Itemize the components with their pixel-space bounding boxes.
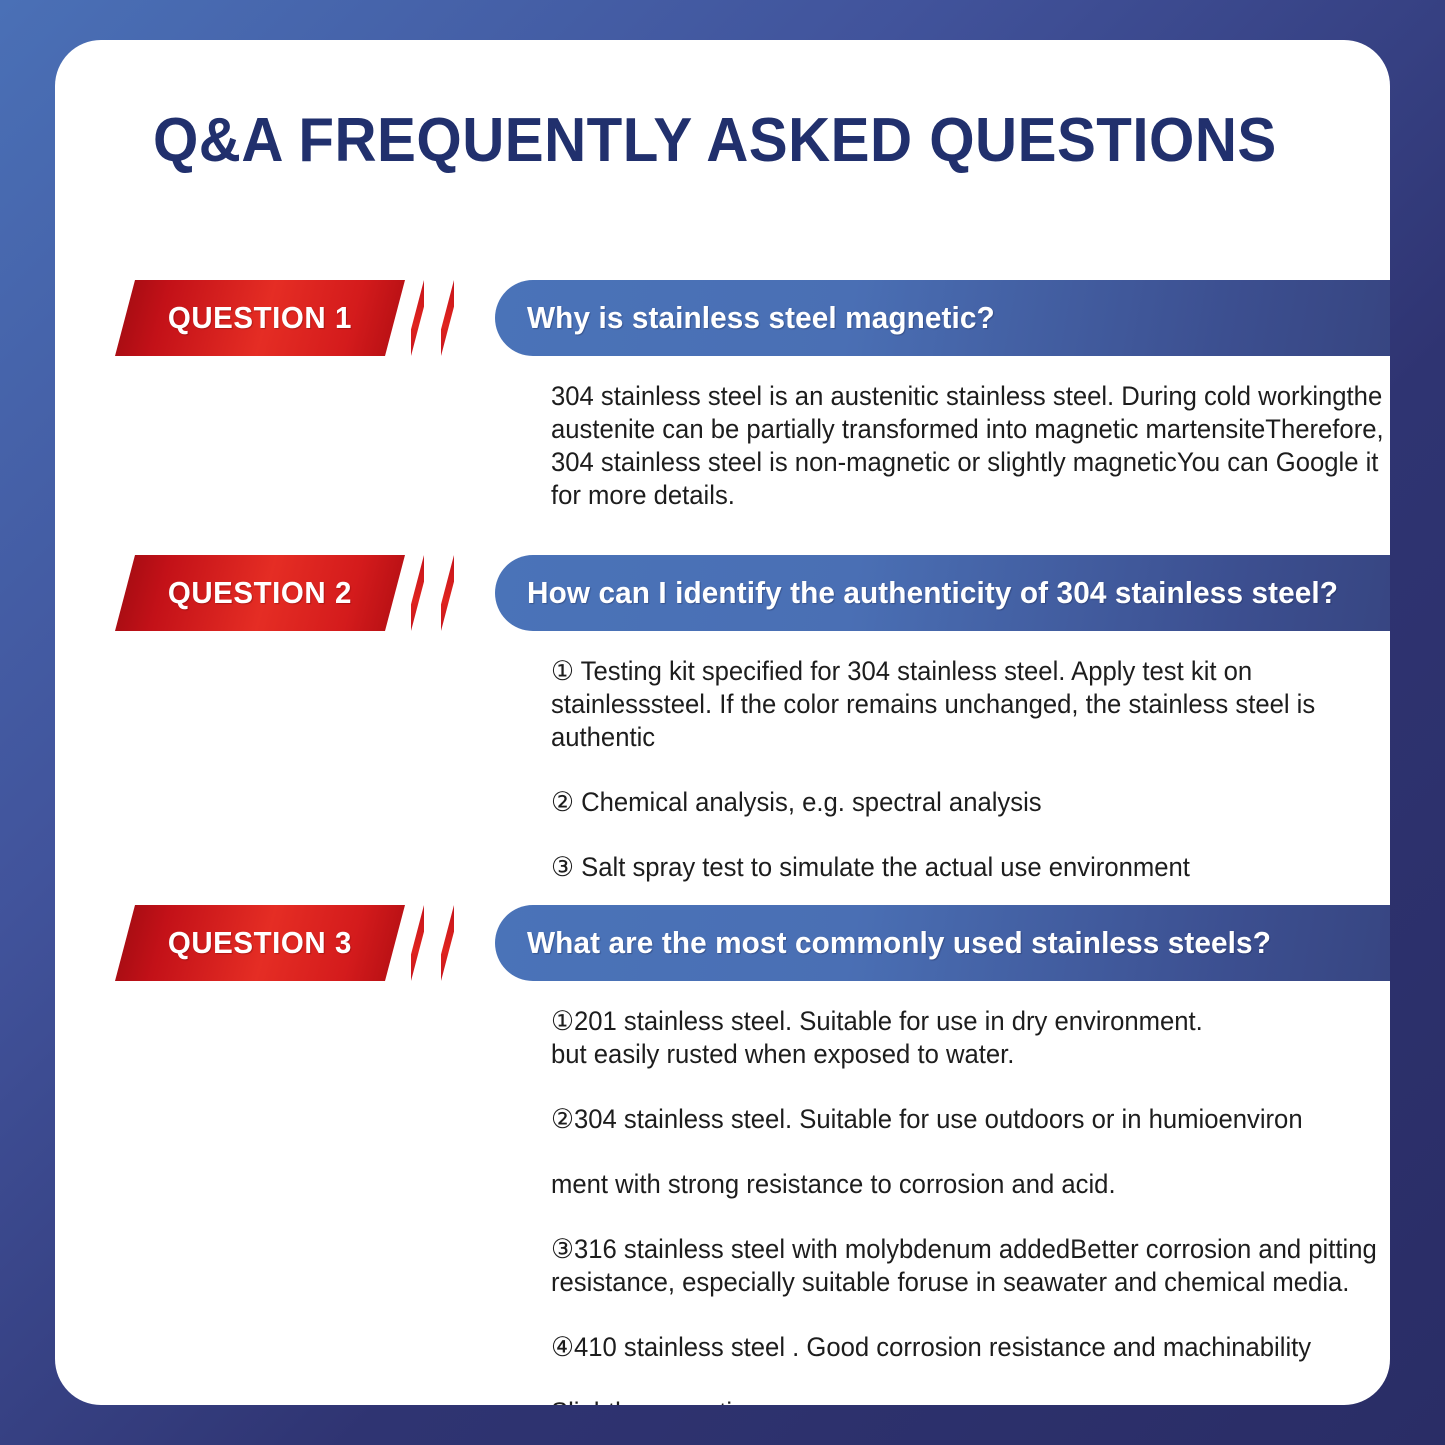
question-badge-1[interactable]: QUESTION 1 [115,280,405,356]
question-pill-2[interactable]: How can I identify the authenticity of 3… [495,555,1390,631]
answer-paragraph: ④410 stainless steel . Good corrosion re… [551,1331,1390,1364]
slash-decoration-icon [411,905,424,981]
page-title: Q&A FREQUENTLY ASKED QUESTIONS [153,104,1281,178]
faq-header-3: QUESTION 3 What are the most commonly us… [55,905,1390,981]
slash-decoration-icon [411,280,424,356]
answer-paragraph: Slightly magnetic. [551,1396,1390,1405]
answer-2: ① Testing kit specified for 304 stainles… [551,655,1330,884]
question-badge-3[interactable]: QUESTION 3 [115,905,405,981]
faq-card: Q&A FREQUENTLY ASKED QUESTIONS QUESTION … [55,40,1390,1405]
question-badge-label-1: QUESTION 1 [168,300,352,336]
slash-decoration-icon [441,905,454,981]
slash-decoration-icon [441,280,454,356]
answer-paragraph: ① Testing kit specified for 304 stainles… [551,655,1330,754]
answer-3: ①201 stainless steel. Suitable for use i… [551,1005,1390,1405]
slash-decoration-icon [411,555,424,631]
question-pill-3[interactable]: What are the most commonly used stainles… [495,905,1390,981]
question-text-1: Why is stainless steel magnetic? [527,300,995,336]
faq-item-3: QUESTION 3 What are the most commonly us… [55,905,1390,981]
faq-item-1: QUESTION 1 Why is stainless steel magnet… [55,280,1390,356]
answer-paragraph: ②304 stainless steel. Suitable for use o… [551,1103,1390,1136]
faq-header-1: QUESTION 1 Why is stainless steel magnet… [55,280,1390,356]
question-badge-label-2: QUESTION 2 [168,575,352,611]
answer-paragraph: ①201 stainless steel. Suitable for use i… [551,1005,1390,1038]
question-text-3: What are the most commonly used stainles… [527,925,1271,961]
question-badge-2[interactable]: QUESTION 2 [115,555,405,631]
answer-paragraph: but easily rusted when exposed to water. [551,1038,1390,1071]
answer-paragraph: ③ Salt spray test to simulate the actual… [551,851,1330,884]
faq-header-2: QUESTION 2 How can I identify the authen… [55,555,1390,631]
question-text-2: How can I identify the authenticity of 3… [527,575,1338,611]
question-badge-label-3: QUESTION 3 [168,925,352,961]
faq-item-2: QUESTION 2 How can I identify the authen… [55,555,1390,631]
slash-decoration-icon [441,555,454,631]
answer-paragraph: ③316 stainless steel with molybdenum add… [551,1233,1390,1299]
answer-paragraph: ② Chemical analysis, e.g. spectral analy… [551,786,1330,819]
answer-paragraph: 304 stainless steel is an austenitic sta… [551,380,1390,512]
answer-paragraph: ment with strong resistance to corrosion… [551,1168,1390,1201]
faq-page: Q&A FREQUENTLY ASKED QUESTIONS QUESTION … [0,0,1445,1445]
answer-1: 304 stainless steel is an austenitic sta… [551,380,1390,512]
question-pill-1[interactable]: Why is stainless steel magnetic? [495,280,1390,356]
